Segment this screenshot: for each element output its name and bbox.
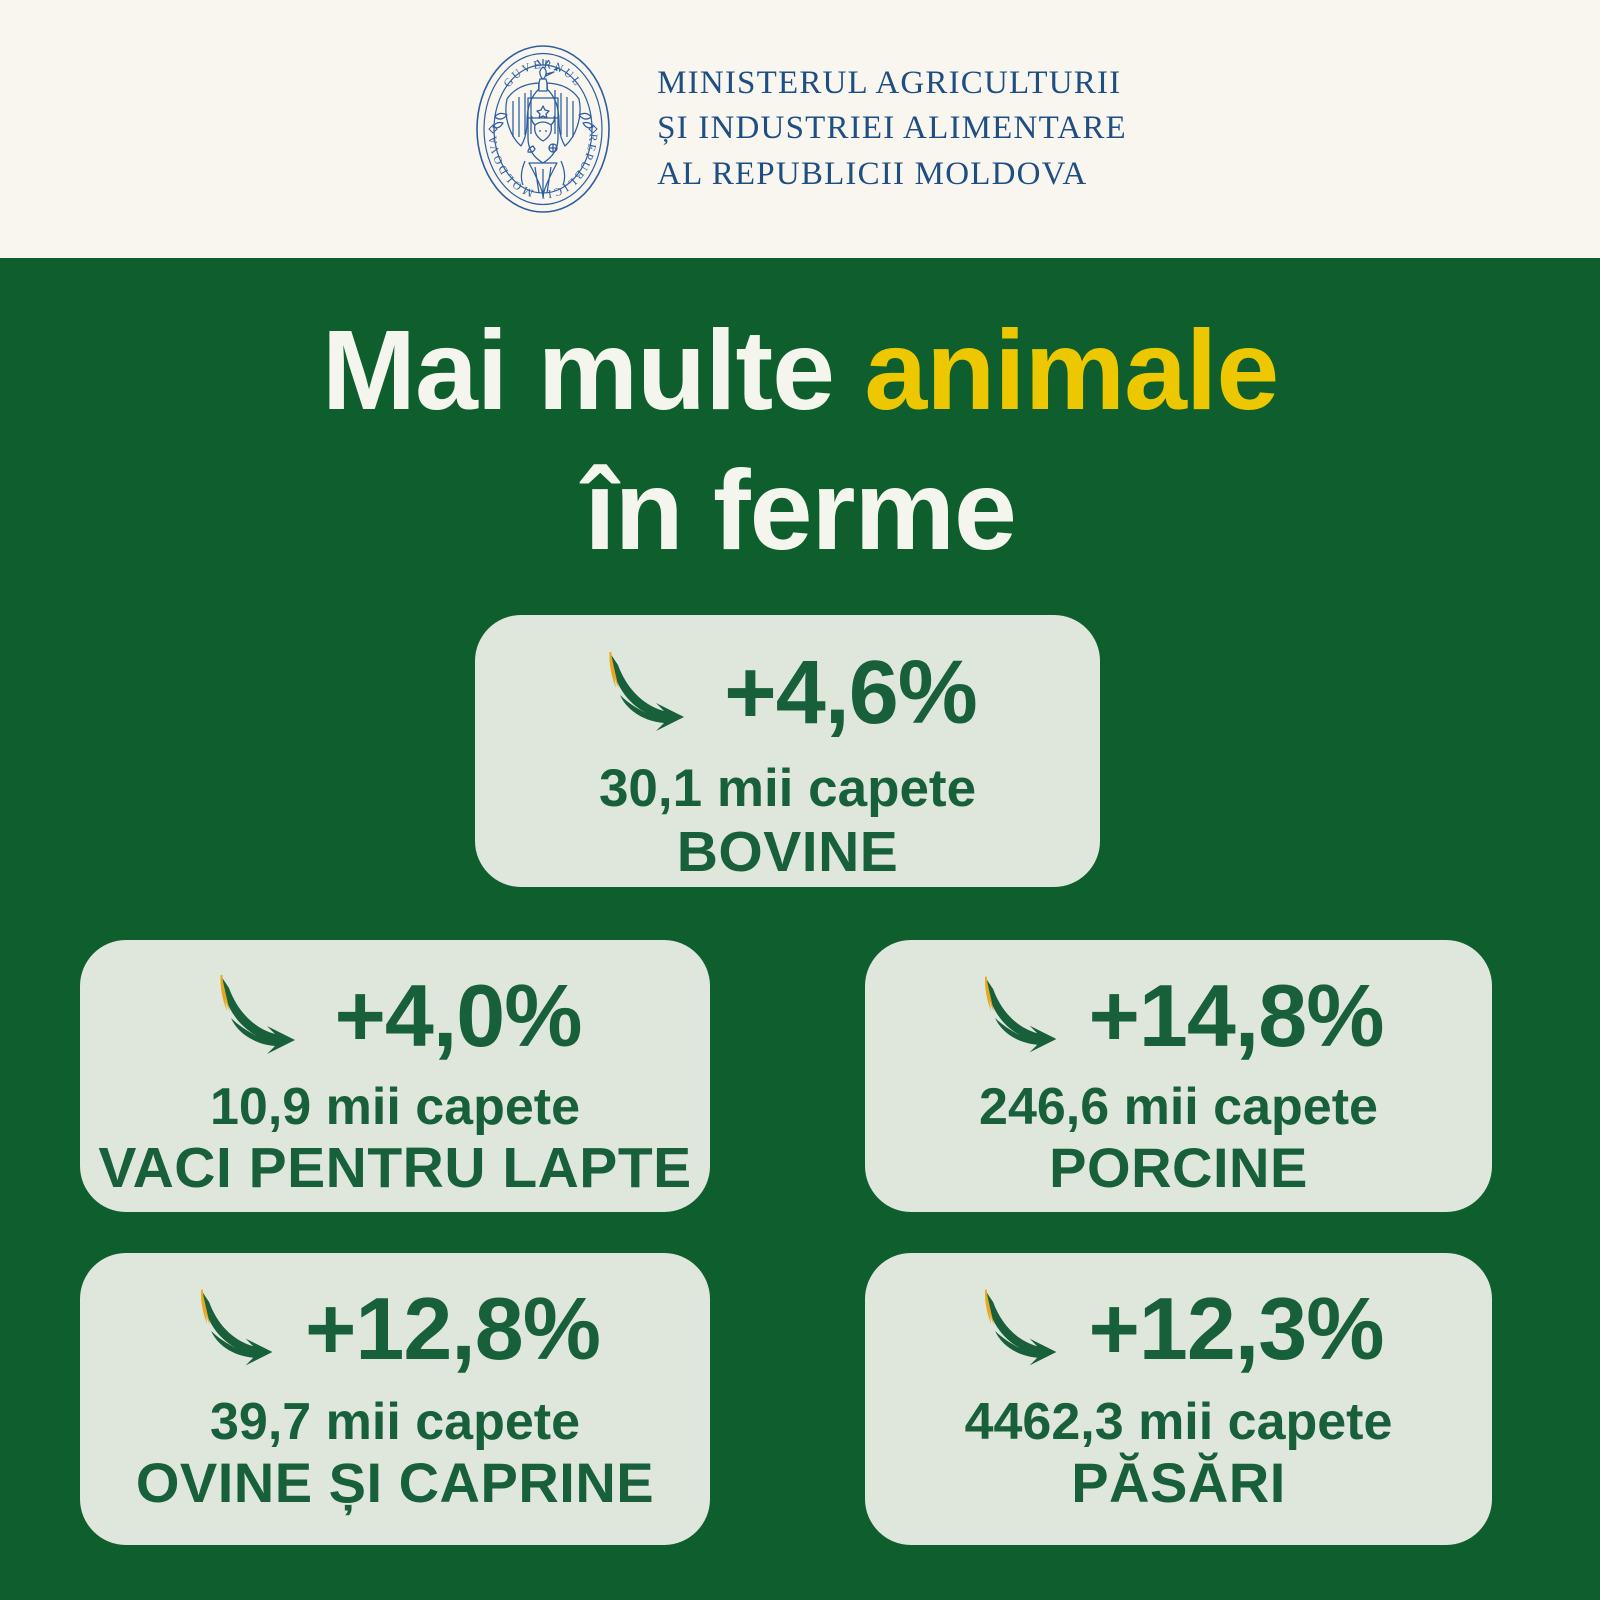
- card-top-row: +12,8%: [80, 1253, 710, 1379]
- curved-down-right-arrow-icon: [190, 1279, 305, 1379]
- stat-card-porcine: +14,8% 246,6 mii capete PORCINE: [865, 940, 1492, 1212]
- infographic-poster: GUVERNUL REPUBLICII MOLDOVA: [0, 0, 1600, 1600]
- ministry-line-1: MINISTERUL AGRICULTURII: [657, 62, 1127, 106]
- stat-card-vaci-pentru-lapte: +4,0% 10,9 mii capete VACI PENTRU LAPTE: [80, 940, 710, 1212]
- title-line-1: Mai multe animale: [0, 300, 1600, 440]
- heads-count: 30,1 mii capete: [475, 761, 1100, 817]
- percent-change: +4,0%: [335, 972, 582, 1060]
- curved-down-right-arrow-icon: [598, 643, 718, 743]
- moldova-government-seal-icon: GUVERNUL REPUBLICII MOLDOVA: [473, 43, 613, 215]
- heads-count: 10,9 mii capete: [80, 1080, 710, 1135]
- ministry-line-2: ȘI INDUSTRIEI ALIMENTARE: [657, 107, 1127, 151]
- species-label: BOVINE: [475, 823, 1100, 883]
- stat-card-bovine: +4,6% 30,1 mii capete BOVINE: [475, 615, 1100, 887]
- percent-change: +14,8%: [1089, 972, 1384, 1060]
- species-label: PĂSĂRI: [865, 1454, 1492, 1513]
- card-top-row: +14,8%: [865, 940, 1492, 1066]
- curved-down-right-arrow-icon: [209, 966, 329, 1066]
- card-top-row: +12,3%: [865, 1253, 1492, 1379]
- curved-down-right-arrow-icon: [974, 1279, 1089, 1379]
- page-title: Mai multe animale în ferme: [0, 300, 1600, 580]
- percent-change: +12,8%: [305, 1285, 600, 1373]
- stat-card-pasari: +12,3% 4462,3 mii capete PĂSĂRI: [865, 1253, 1492, 1545]
- header-bar: GUVERNUL REPUBLICII MOLDOVA: [0, 0, 1600, 258]
- title-accent: animale: [864, 307, 1278, 433]
- curved-down-right-arrow-icon: [974, 966, 1089, 1066]
- ministry-name-block: MINISTERUL AGRICULTURII ȘI INDUSTRIEI AL…: [657, 62, 1127, 197]
- percent-change: +4,6%: [724, 648, 977, 738]
- title-line-2: în ferme: [0, 440, 1600, 580]
- species-label: OVINE ȘI CAPRINE: [80, 1454, 710, 1513]
- percent-change: +12,3%: [1089, 1285, 1384, 1373]
- species-label: VACI PENTRU LAPTE: [80, 1139, 710, 1199]
- heads-count: 246,6 mii capete: [865, 1080, 1492, 1135]
- heads-count: 39,7 mii capete: [80, 1395, 710, 1450]
- heads-count: 4462,3 mii capete: [865, 1395, 1492, 1450]
- title-plain: Mai multe: [322, 307, 865, 433]
- card-top-row: +4,0%: [80, 940, 710, 1066]
- ministry-line-3: AL REPUBLICII MOLDOVA: [657, 153, 1127, 197]
- species-label: PORCINE: [865, 1139, 1492, 1198]
- card-top-row: +4,6%: [475, 615, 1100, 743]
- stat-card-ovine-si-caprine: +12,8% 39,7 mii capete OVINE ȘI CAPRINE: [80, 1253, 710, 1545]
